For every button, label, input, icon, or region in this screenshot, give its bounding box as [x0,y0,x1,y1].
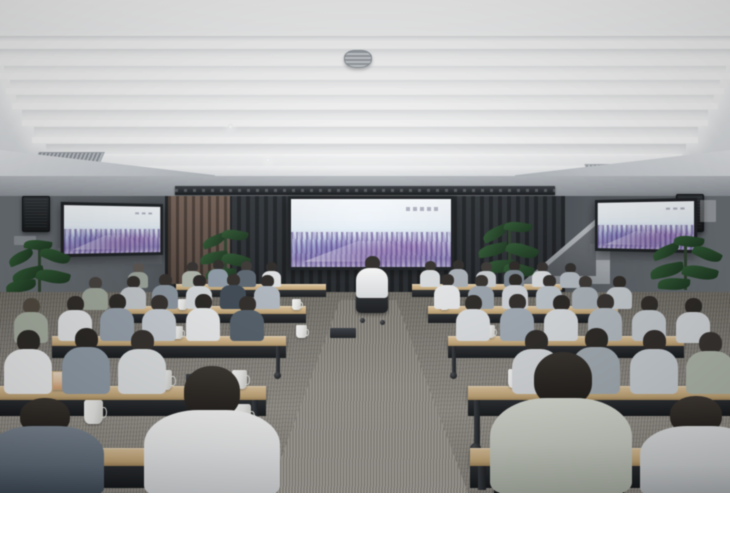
ceiling [0,0,730,196]
attendee [686,332,730,392]
chair-caster [360,318,365,323]
attendee-body [144,410,280,493]
light-strip [0,41,730,48]
attendee [186,294,220,340]
light-strip [12,103,718,109]
light-strip [6,88,724,94]
attendee-body [490,398,632,493]
water-cup [292,299,301,310]
ceiling-rail-shadow [16,95,714,101]
light-strip [0,73,730,79]
attendee [4,330,52,392]
presenter [356,256,388,298]
downlight-icon [228,124,233,129]
left-screen-glare [64,205,160,254]
ceiling-band [0,0,730,36]
ceiling-rail-shadow [46,144,686,152]
letterbox-bottom [0,493,730,548]
ceiling-rail-shadow [10,80,720,86]
wall-speaker-left [22,196,50,232]
attendee [630,330,678,392]
attendee [456,295,490,340]
attendee-foreground-right [490,352,632,492]
attendee [230,296,264,340]
attendee-body [0,426,104,493]
desk-leg [474,400,480,446]
attendee-foreground-left [0,398,104,493]
desk-leg [478,466,486,490]
screenshot-root: 千子石 张建华 [0,0,730,548]
downlight-icon [266,158,270,162]
presenter-body [356,268,388,298]
attendee-foreground-center [144,366,280,493]
laptop[interactable] [330,328,356,338]
ceiling-rail-shadow [22,110,708,117]
potted-plant-right [648,228,724,294]
chair-caster [380,320,385,325]
potted-plant-left [6,232,76,294]
left-side-display[interactable] [61,202,163,257]
water-cup [296,325,307,338]
attendee-body [640,426,730,493]
lighting-truss [175,186,555,195]
desk-caster [450,372,457,379]
ceiling-rail-shadow [34,127,698,135]
attendee [62,328,110,392]
light-strip [22,120,708,126]
wall-sign-right [700,200,716,222]
conference-room-photograph: 千子石 张建华 [0,0,730,493]
smoke-detector-icon [344,50,372,68]
light-strip [48,154,682,159]
light-strip [32,137,698,143]
attendee-foreground-far-right [640,396,730,493]
desk-leg [452,346,456,374]
